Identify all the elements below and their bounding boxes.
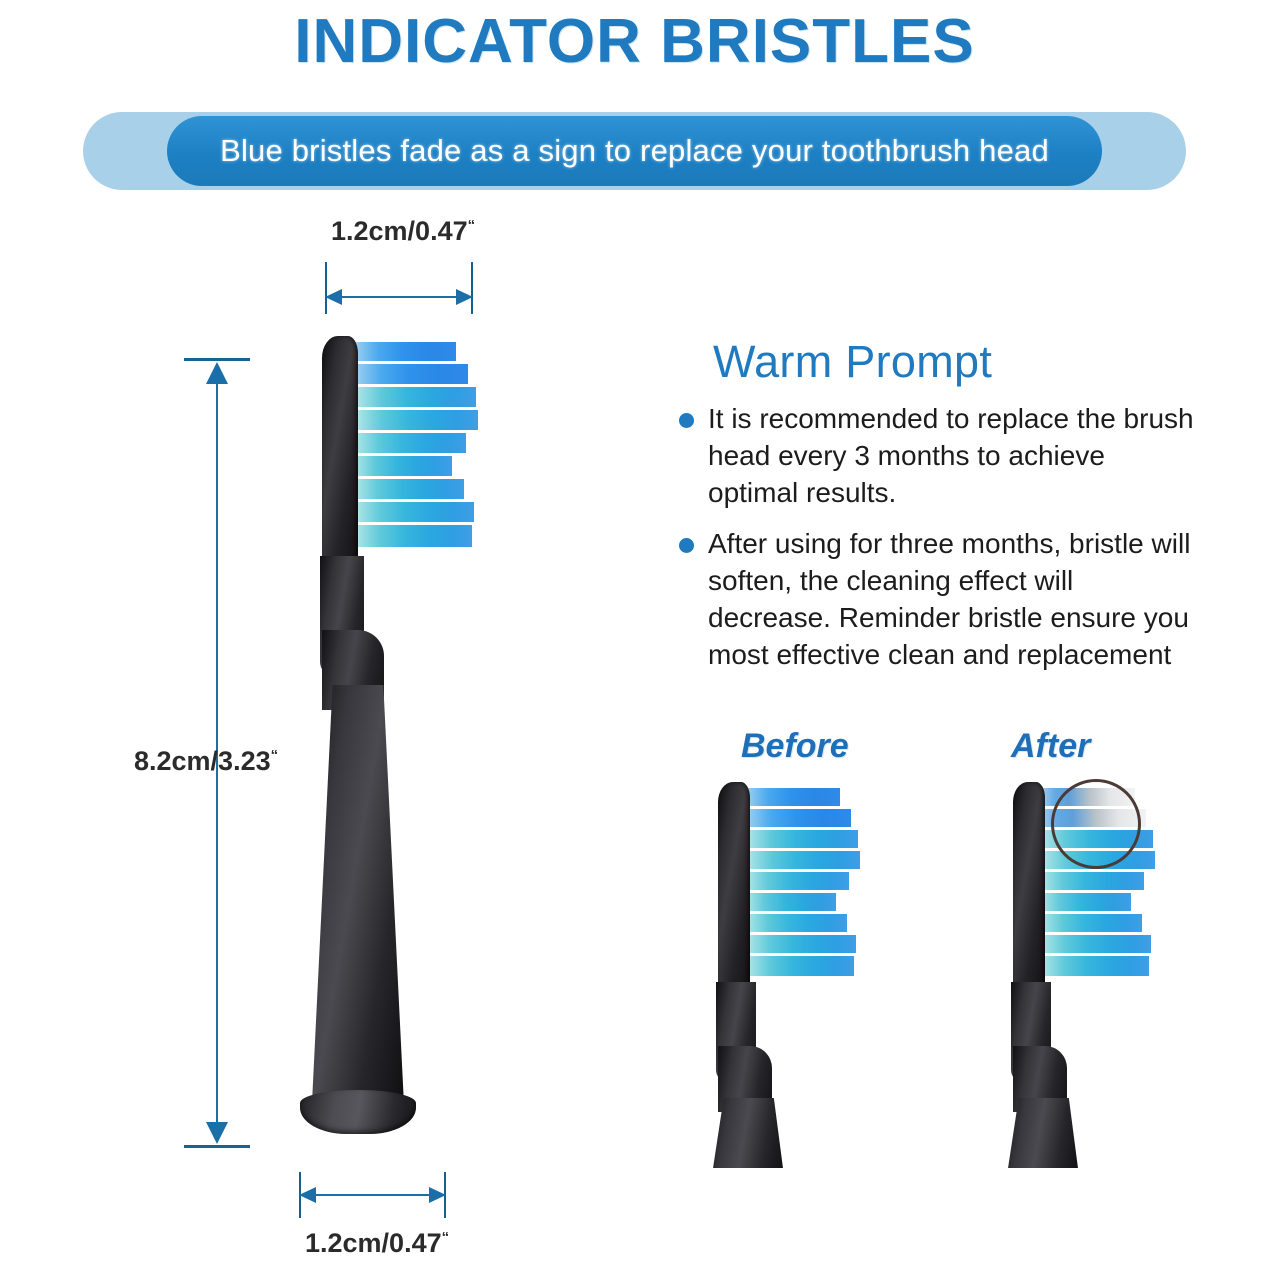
bristle-field-before (740, 788, 860, 983)
top-width-label: 1.2cm/0.47“ (331, 216, 475, 247)
bristle-field (348, 342, 478, 557)
list-item: After using for three months, bristle wi… (676, 525, 1196, 673)
dim-tick-right (471, 262, 473, 314)
highlight-circle-icon (1051, 779, 1141, 869)
arrow-up-icon (206, 362, 228, 384)
main-toothbrush-illustration (280, 330, 540, 1160)
height-label: 8.2cm/3.23“ (134, 746, 278, 777)
dim-shaft (331, 296, 467, 298)
page-title: INDICATOR BRISTLES (0, 6, 1269, 77)
banner-inner-capsule: Blue bristles fade as a sign to replace … (167, 116, 1102, 186)
arrow-down-icon (206, 1122, 228, 1144)
bullet-icon (679, 413, 694, 428)
dim-tick-left (325, 262, 327, 314)
infographic-page: INDICATOR BRISTLES Blue bristles fade as… (0, 0, 1269, 1269)
dim-shaft (305, 1194, 440, 1196)
brush-head-plate (322, 336, 358, 564)
arrow-left-icon (299, 1187, 316, 1203)
list-item-text: After using for three months, bristle wi… (708, 525, 1196, 673)
brush-head-plate (1013, 782, 1045, 990)
list-item: It is recommended to replace the brush h… (676, 400, 1196, 511)
before-toothbrush-illustration (690, 778, 910, 1168)
after-label: After (1011, 727, 1090, 766)
top-width-dimension (325, 262, 473, 314)
bottom-width-dimension (299, 1172, 446, 1218)
brush-base-collar (300, 1090, 416, 1134)
list-item-text: It is recommended to replace the brush h… (708, 400, 1196, 511)
before-label: Before (741, 727, 849, 766)
brush-head-plate (718, 782, 750, 990)
arrow-right-icon (429, 1187, 446, 1203)
dim-cap-bottom (184, 1145, 250, 1148)
warm-prompt-title: Warm Prompt (713, 336, 992, 388)
arrow-right-icon (456, 289, 473, 305)
warm-prompt-list: It is recommended to replace the brush h… (676, 400, 1196, 687)
bullet-icon (679, 538, 694, 553)
arrow-left-icon (325, 289, 342, 305)
dim-cap-top (184, 358, 250, 361)
tagline-banner: Blue bristles fade as a sign to replace … (83, 112, 1186, 190)
banner-text: Blue bristles fade as a sign to replace … (220, 133, 1049, 169)
bottom-width-label: 1.2cm/0.47“ (305, 1228, 449, 1259)
brush-handle (310, 685, 404, 1105)
